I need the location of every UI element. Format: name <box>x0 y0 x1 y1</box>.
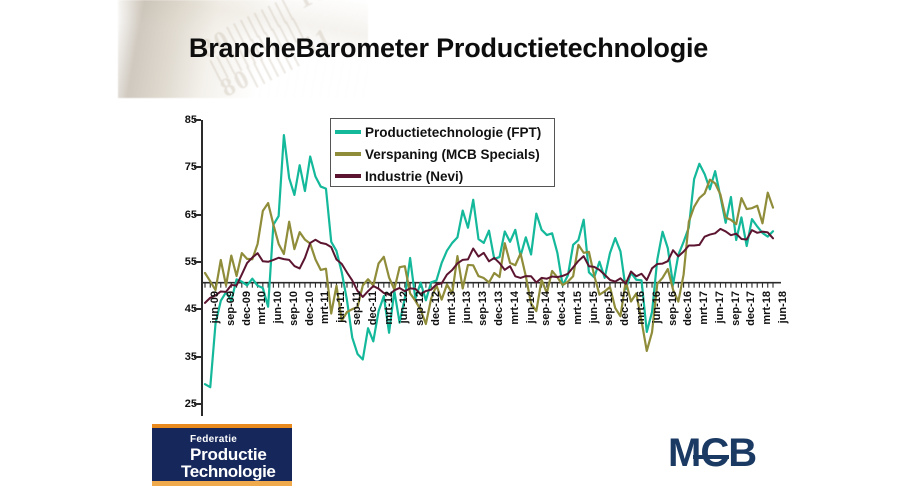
x-tick-label-mrt-17: mrt-17 <box>698 291 710 325</box>
x-tick-label-dec-09: dec-09 <box>241 291 253 326</box>
fpt-logo: Federatie Productie Technologie <box>152 424 292 486</box>
legend-item-fpt: Productietechnologie (FPT) <box>335 121 550 143</box>
legend-swatch-fpt <box>335 130 361 134</box>
legend-item-industrie: Industrie (Nevi) <box>335 165 550 187</box>
legend-item-verspaning: Verspaning (MCB Specials) <box>335 143 550 165</box>
x-tick-label-sep-09: sep-09 <box>225 291 237 326</box>
x-tick-label-jun-10: jun-10 <box>272 291 284 323</box>
branchebarometer-line-chart: 25354555657585 jun-09sep-09dec-09mrt-10j… <box>163 112 783 412</box>
fpt-logo-text: Federatie Productie Technologie <box>190 435 275 480</box>
y-tick-mark-65 <box>194 214 201 216</box>
x-tick-label-jun-14: jun-14 <box>525 291 537 323</box>
x-tick-label-mrt-10: mrt-10 <box>256 291 268 325</box>
y-tick-mark-25 <box>194 403 201 405</box>
x-tick-label-sep-11: sep-11 <box>351 291 363 325</box>
mcb-logo-text: MCB <box>668 431 756 475</box>
mcb-logo-bar <box>693 455 729 459</box>
x-tick-label-dec-10: dec-10 <box>304 291 316 326</box>
x-tick-label-dec-16: dec-16 <box>682 291 694 326</box>
x-tick-label-jun-18: jun-18 <box>777 291 789 323</box>
y-tick-mark-35 <box>194 356 201 358</box>
x-tick-label-jun-15: jun-15 <box>588 291 600 323</box>
x-tick-label-jun-09: jun-09 <box>209 291 221 323</box>
x-tick-label-dec-12: dec-12 <box>430 291 442 326</box>
legend-label-fpt: Productietechnologie (FPT) <box>365 125 541 140</box>
x-tick-label-dec-17: dec-17 <box>745 291 757 326</box>
fpt-logo-line1: Federatie <box>190 435 275 445</box>
x-tick-label-mrt-18: mrt-18 <box>761 291 773 325</box>
x-tick-label-jun-13: jun-13 <box>461 291 473 323</box>
y-tick-mark-75 <box>194 166 201 168</box>
x-tick-label-mrt-16: mrt-16 <box>635 291 647 325</box>
x-tick-label-jun-11: jun-11 <box>335 291 347 323</box>
fpt-logo-line2: Productie <box>190 446 275 463</box>
legend-label-verspaning: Verspaning (MCB Specials) <box>365 147 540 162</box>
x-tick-label-sep-17: sep-17 <box>730 291 742 326</box>
x-tick-label-sep-14: sep-14 <box>540 291 552 326</box>
x-tick-label-mrt-14: mrt-14 <box>509 291 521 325</box>
x-tick-label-dec-11: dec-11 <box>367 291 379 325</box>
x-tick-label-dec-14: dec-14 <box>556 291 568 326</box>
x-tick-label-sep-10: sep-10 <box>288 291 300 326</box>
x-tick-label-sep-15: sep-15 <box>603 291 615 326</box>
x-tick-label-sep-13: sep-13 <box>477 291 489 326</box>
y-tick-mark-55 <box>194 261 201 263</box>
x-tick-label-jun-17: jun-17 <box>714 291 726 323</box>
page-title: BrancheBarometer Productietechnologie <box>0 33 897 64</box>
chart-legend: Productietechnologie (FPT) Verspaning (M… <box>330 118 555 187</box>
y-axis-labels: 25354555657585 <box>163 112 197 412</box>
x-tick-label-dec-13: dec-13 <box>493 291 505 326</box>
x-tick-label-mrt-13: mrt-13 <box>446 291 458 325</box>
x-tick-label-jun-12: jun-12 <box>398 291 410 323</box>
x-tick-label-dec-15: dec-15 <box>619 291 631 326</box>
y-tick-mark-85 <box>194 119 201 121</box>
legend-swatch-verspaning <box>335 152 361 156</box>
x-tick-label-sep-16: sep-16 <box>667 291 679 326</box>
legend-label-industrie: Industrie (Nevi) <box>365 169 463 184</box>
fpt-logo-line3: Technologie <box>181 463 275 480</box>
mcb-logo: MCB <box>668 433 756 473</box>
x-tick-label-mrt-12: mrt-12 <box>383 291 395 325</box>
x-tick-label-jun-16: jun-16 <box>651 291 663 323</box>
x-tick-label-mrt-11: mrt-11 <box>319 291 331 324</box>
y-tick-mark-45 <box>194 308 201 310</box>
legend-swatch-industrie <box>335 174 361 178</box>
slide-canvas: 80||||||||| 10|||||||||||||80||||||| 11 … <box>0 0 897 495</box>
x-tick-label-mrt-15: mrt-15 <box>572 291 584 325</box>
x-tick-label-sep-12: sep-12 <box>414 291 426 326</box>
